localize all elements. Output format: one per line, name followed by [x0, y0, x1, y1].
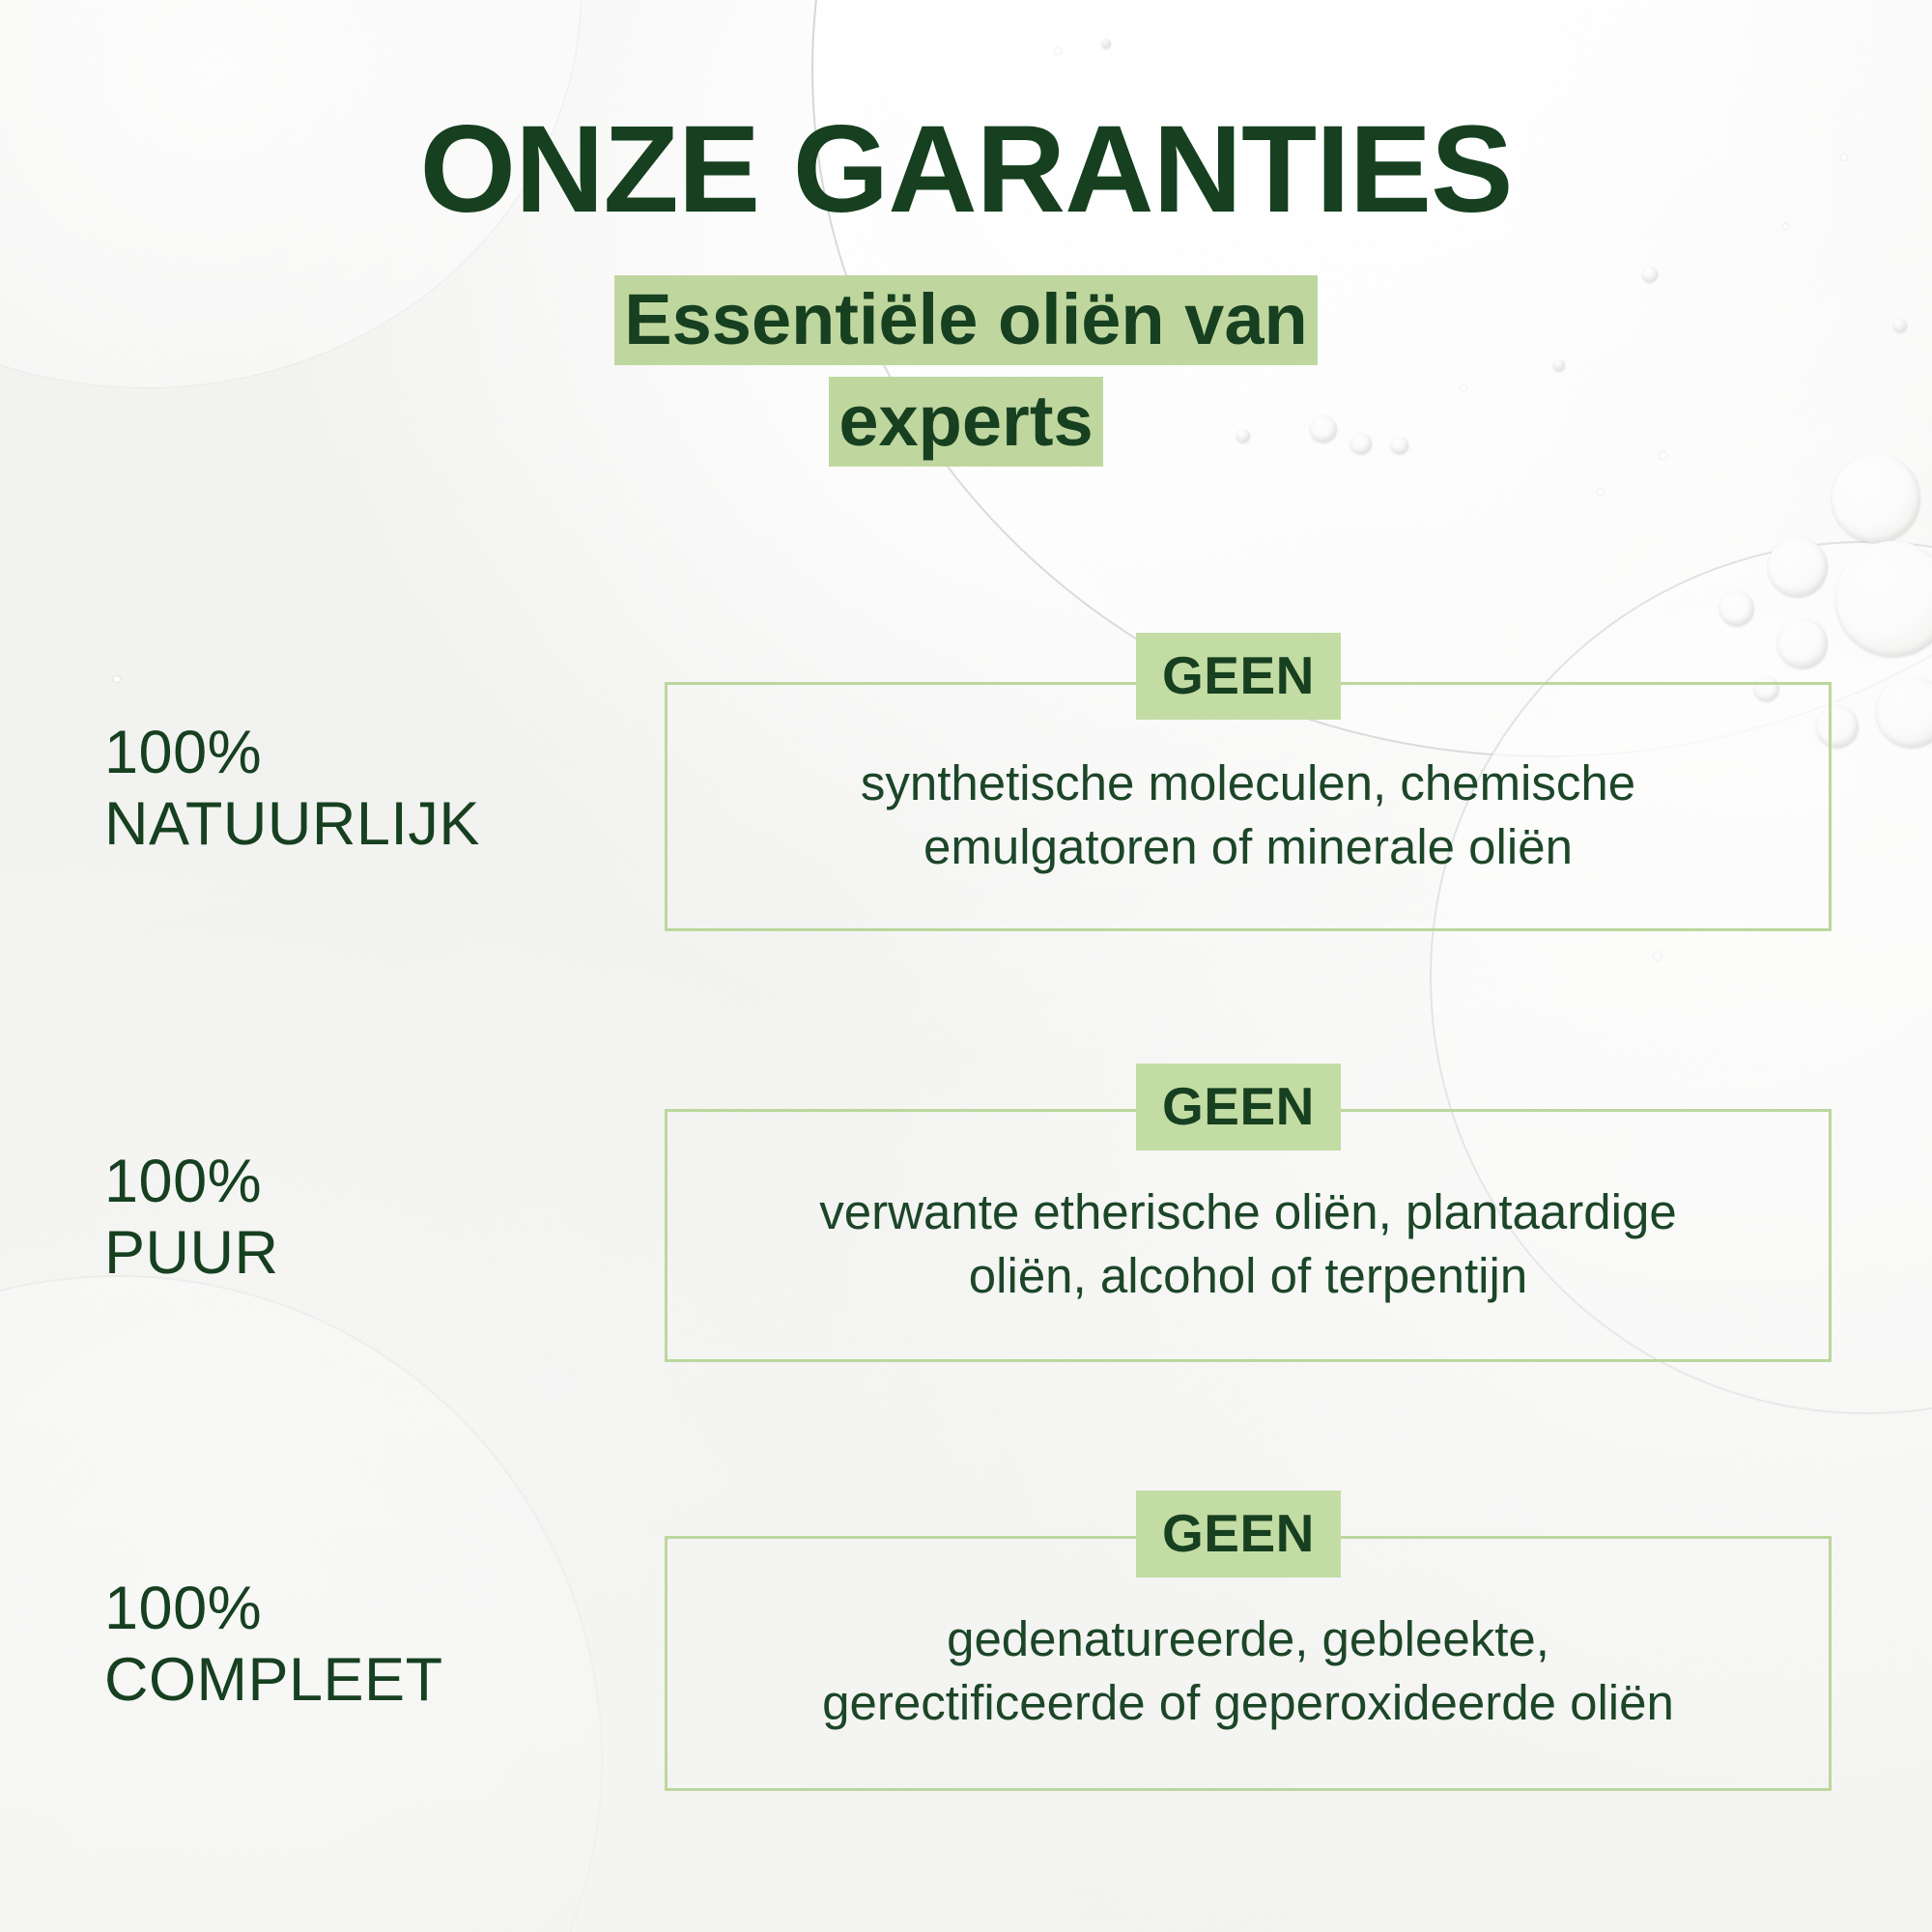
guarantee-label-puur: 100% PUUR — [104, 1146, 645, 1290]
guarantee-text-line-2: gerectificeerde of geperoxideerde oliën — [822, 1675, 1674, 1730]
guarantee-text-line-1: synthetische moleculen, chemische — [861, 755, 1635, 810]
guarantee-text-line-1: verwante etherische oliën, plantaardige — [819, 1184, 1676, 1239]
guarantee-percent: 100% — [104, 719, 262, 786]
guarantee-text-line-2: oliën, alcohol of terpentijn — [969, 1248, 1527, 1303]
poster-content: ONZE GARANTIES Essentiële oliën van expe… — [0, 0, 1932, 1932]
guarantee-badge-natuurlijk: GEEN — [1136, 633, 1341, 720]
page-title: ONZE GARANTIES — [0, 108, 1932, 232]
guarantee-label-compleet: 100% COMPLEET — [104, 1573, 645, 1717]
guarantee-text-puur: verwante etherische oliën, plantaardige … — [638, 1180, 1859, 1309]
guarantee-text-line-1: gedenatureerde, gebleekte, — [947, 1611, 1549, 1666]
page-subtitle: Essentiële oliën van experts — [386, 269, 1546, 471]
guarantee-text-natuurlijk: synthetische moleculen, chemische emulga… — [665, 752, 1832, 880]
guarantee-text-compleet: gedenatureerde, gebleekte, gerectificeer… — [638, 1607, 1859, 1736]
guarantee-label-natuurlijk: 100% NATUURLIJK — [104, 717, 645, 861]
subtitle-line-2: experts — [829, 377, 1102, 467]
guarantee-text-line-2: emulgatoren of minerale oliën — [923, 819, 1573, 874]
guarantee-percent: 100% — [104, 1575, 262, 1642]
subtitle-line-1: Essentiële oliën van — [614, 275, 1317, 365]
guarantee-word: COMPLEET — [104, 1646, 443, 1714]
poster-canvas: ONZE GARANTIES Essentiële oliën van expe… — [0, 0, 1932, 1932]
guarantee-word: NATUURLIJK — [104, 790, 480, 858]
guarantee-percent: 100% — [104, 1148, 262, 1215]
guarantee-badge-puur: GEEN — [1136, 1064, 1341, 1151]
guarantee-word: PUUR — [104, 1219, 279, 1287]
guarantee-badge-compleet: GEEN — [1136, 1491, 1341, 1577]
